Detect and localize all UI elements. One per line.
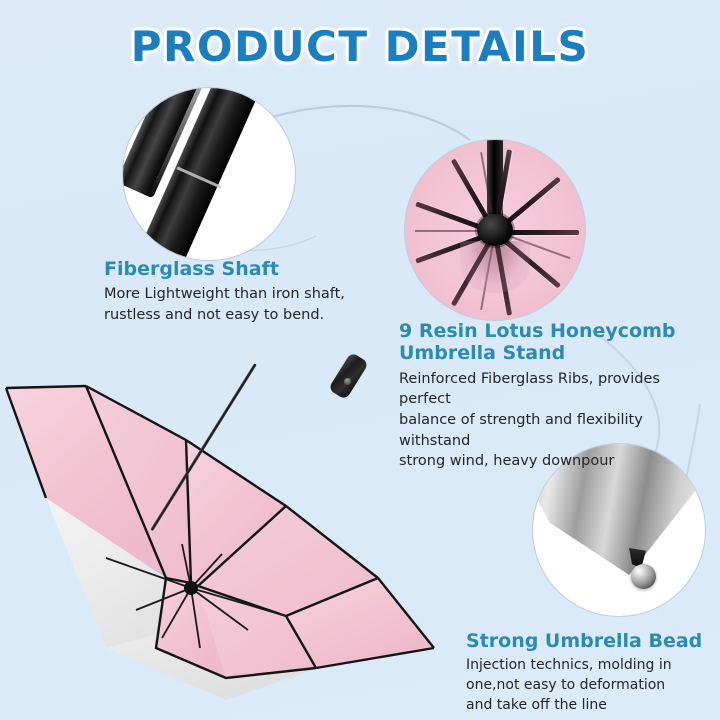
feature-line: rustless and not easy to bend. [104, 307, 324, 323]
feature-description-umbrella-bead: Injection technics, molding in one,not e… [466, 656, 714, 716]
feature-line: Injection technics, molding in [466, 657, 672, 673]
page-title: PRODUCT DETAILS [0, 22, 720, 71]
stand-skirt-icon [460, 241, 530, 293]
feature-block-umbrella-bead: Strong Umbrella Bead Injection technics,… [466, 630, 714, 716]
product-image-umbrella [0, 348, 456, 720]
umbrella-hub [184, 581, 198, 595]
feature-line: one,not easy to deformation [466, 677, 665, 693]
feature-line: and take off the line [466, 697, 607, 713]
feature-line: More Lightweight than iron shaft, [104, 286, 345, 302]
callout-honeycomb-stand [405, 140, 585, 320]
feature-description-fiberglass-shaft: More Lightweight than iron shaft, rustle… [104, 284, 364, 325]
feature-heading-line: 9 Resin Lotus Honeycomb [399, 320, 675, 342]
bead-ball-icon [631, 564, 656, 589]
stand-hub-icon [477, 214, 513, 246]
feature-heading-umbrella-bead: Strong Umbrella Bead [466, 630, 714, 652]
feature-block-fiberglass-shaft: Fiberglass Shaft More Lightweight than i… [104, 258, 364, 326]
infographic-canvas: PRODUCT DETAILS [0, 0, 720, 720]
feature-heading-fiberglass-shaft: Fiberglass Shaft [104, 258, 364, 280]
callout-fiberglass-shaft [123, 88, 295, 260]
